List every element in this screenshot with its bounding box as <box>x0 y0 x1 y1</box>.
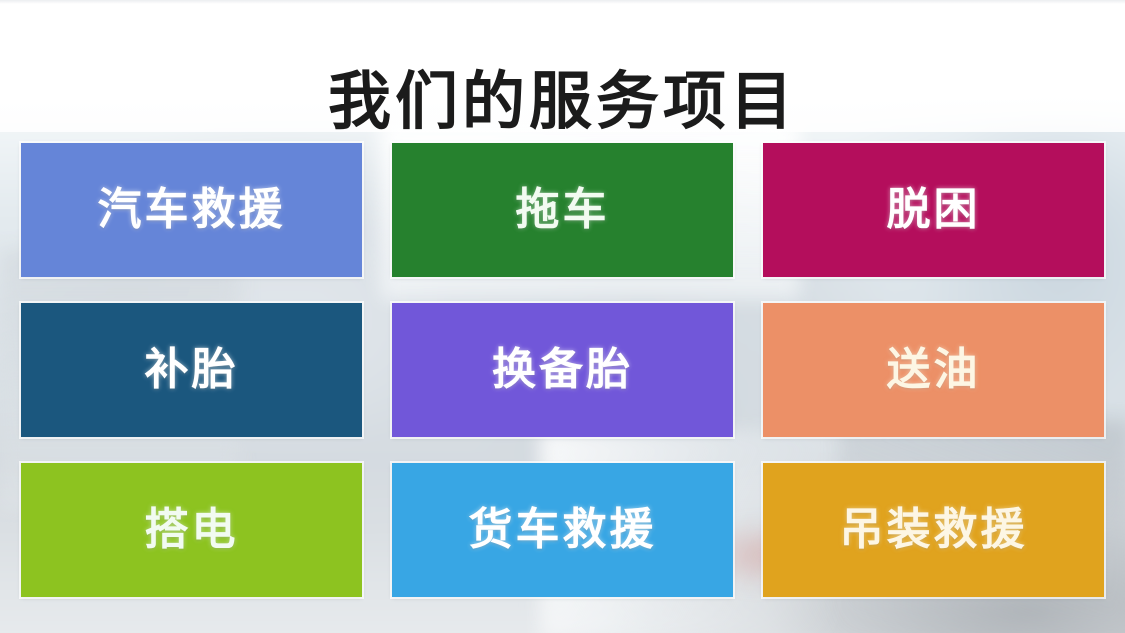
service-tile[interactable]: 吊装救援 <box>763 463 1104 597</box>
service-tile[interactable]: 搭电 <box>21 463 362 597</box>
service-tile[interactable]: 货车救援 <box>392 463 733 597</box>
service-tile[interactable]: 送油 <box>763 303 1104 437</box>
service-tile-label: 吊装救援 <box>840 508 1028 552</box>
service-poster: 我们的服务项目 汽车救援拖车脱困补胎换备胎送油搭电货车救援吊装救援 <box>0 0 1125 633</box>
service-tile-label: 汽车救援 <box>98 188 286 232</box>
service-tile-label: 送油 <box>887 348 981 392</box>
service-tile[interactable]: 拖车 <box>392 143 733 277</box>
service-tile[interactable]: 补胎 <box>21 303 362 437</box>
service-tile-label: 补胎 <box>145 348 239 392</box>
service-tile-label: 换备胎 <box>492 348 633 392</box>
service-tile-label: 搭电 <box>145 508 239 552</box>
page-title: 我们的服务项目 <box>0 64 1125 140</box>
service-tile[interactable]: 脱困 <box>763 143 1104 277</box>
service-tile[interactable]: 汽车救援 <box>21 143 362 277</box>
top-hairline <box>0 0 1125 4</box>
service-tile-label: 脱困 <box>887 188 981 232</box>
service-tile-label: 货车救援 <box>469 508 657 552</box>
service-tile-grid: 汽车救援拖车脱困补胎换备胎送油搭电货车救援吊装救援 <box>21 143 1104 598</box>
service-tile-label: 拖车 <box>516 188 610 232</box>
service-tile[interactable]: 换备胎 <box>392 303 733 437</box>
